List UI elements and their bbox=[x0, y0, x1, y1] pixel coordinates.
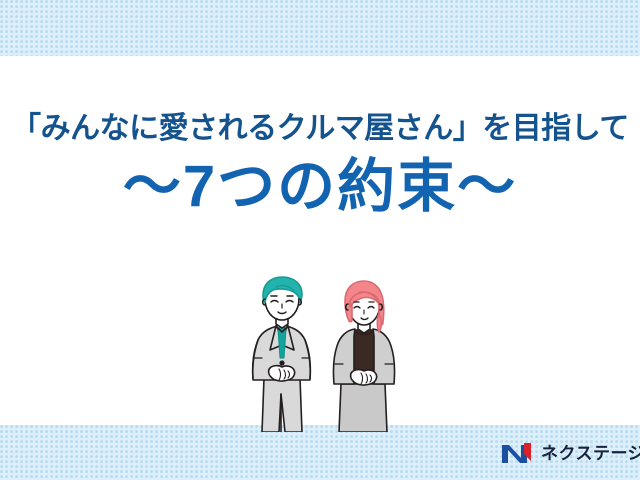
headline-secondary: ～7つの約束～ bbox=[0, 154, 640, 220]
headline-block: 「みんなに愛されるクルマ屋さん」を目指して ～7つの約束～ bbox=[0, 108, 640, 220]
two-staff-bowing-illustration bbox=[232, 266, 412, 432]
nextage-n-logo-icon bbox=[500, 441, 534, 465]
female-staff-figure bbox=[333, 281, 394, 432]
staff-illustration-svg bbox=[232, 266, 412, 432]
headline-primary: 「みんなに愛されるクルマ屋さん」を目指して bbox=[0, 108, 640, 150]
slide-canvas: 「みんなに愛されるクルマ屋さん」を目指して ～7つの約束～ bbox=[0, 0, 640, 480]
top-dotted-band bbox=[0, 0, 640, 56]
brand-wordmark: ネクステージ bbox=[541, 445, 640, 462]
brand-logo: ネクステージ bbox=[500, 440, 640, 466]
male-staff-figure bbox=[253, 277, 311, 432]
